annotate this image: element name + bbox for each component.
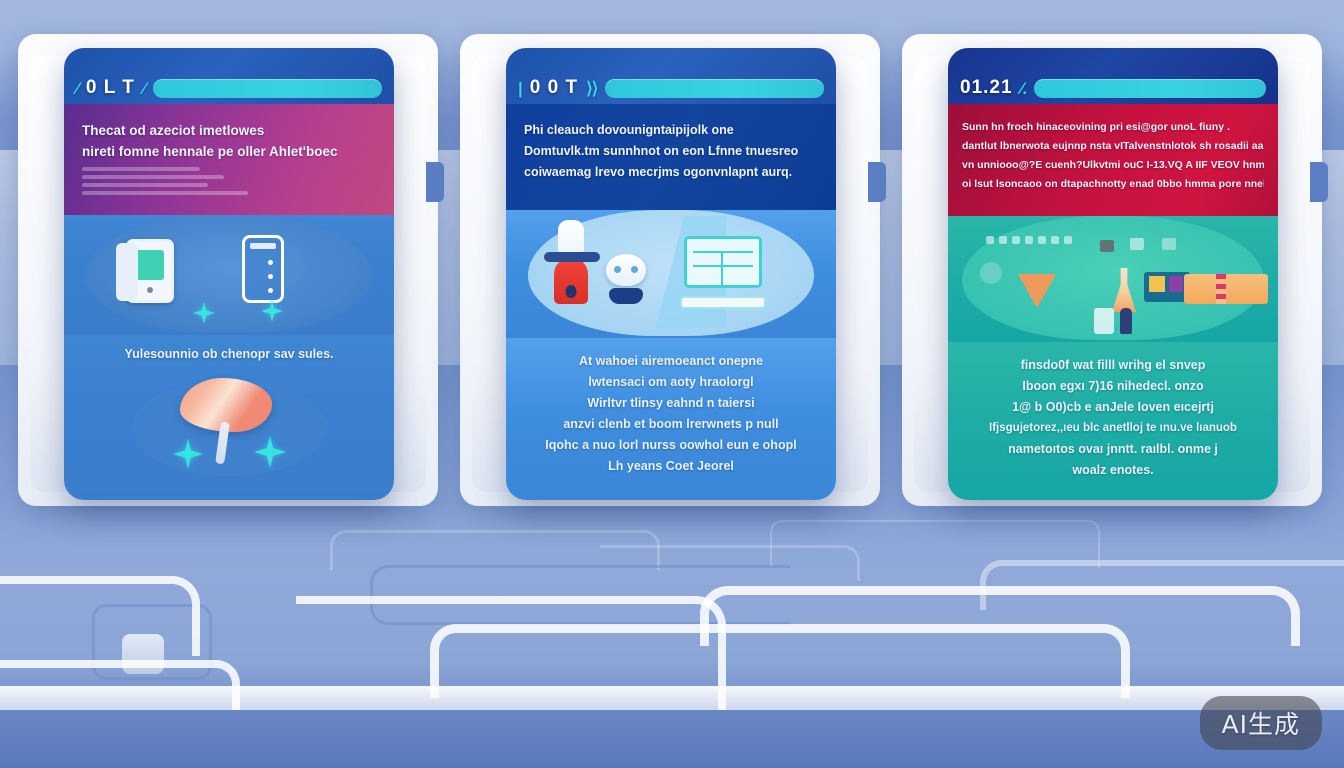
robot-head-icon — [606, 254, 646, 286]
dna-rack-icon — [1184, 274, 1268, 304]
card-2[interactable]: | 0 0 T ⟩⟩ Phi cleauch dovounigntaipijol… — [506, 48, 836, 500]
card-1-header: ⁄ 0 L T ⁄ — [64, 48, 394, 104]
card-1-header-code: 0 L T — [86, 78, 135, 97]
header-glyph-right-icon: ⁄. — [1021, 80, 1027, 97]
card-2-quote-line: coiwaemag lrevo mecrjms ogonvnlapnt aurq… — [524, 162, 818, 183]
scientist-icon — [1120, 308, 1132, 334]
card-2-caption-line: lwtensaci om aoty hraolorgl — [588, 373, 753, 391]
card-2-header-code: 0 0 T — [530, 78, 578, 97]
card-1-body: Yulesounnio ob chenopr sav sules. — [64, 335, 394, 500]
card-1-quote-line: nireti fomne hennale pe oller Ahlet'boec — [82, 141, 376, 162]
card-2-caption-line: Lh yeans Coet Jeorel — [608, 457, 734, 475]
card-2-header-progress-bar — [605, 79, 824, 98]
card-1-organ-illustration — [84, 372, 374, 482]
card-1-quote-line: Thecat od azeciot imetlowes — [82, 120, 376, 141]
hud-circle-icon — [980, 262, 1002, 284]
card-2-illustration — [506, 210, 836, 338]
tablet-shadow-icon — [116, 243, 138, 301]
dna-strip-icon — [1216, 274, 1226, 304]
header-glyph-left-icon: | — [518, 80, 522, 97]
hud-chip-icon — [1162, 238, 1176, 250]
card-3-caption-line: 1@ b O0)cb e anJele Ioven eıcejrtj — [1012, 398, 1214, 416]
card-3-illustration — [948, 216, 1278, 342]
card-3-quote-line: vn unniooo@?E cuenh?Ulkvtmi ouC I-13.VQ … — [962, 156, 1264, 175]
card-2-body: At wahoei airemoeanct onepne lwtensaci o… — [506, 338, 836, 500]
card-3-caption-line: nametoıtos ovaı jnntt. raılbl. onme j — [1008, 440, 1218, 458]
card-2-caption-line: Wirltvr tlinsy eahnd n taiersi — [587, 394, 754, 412]
card-2-quote-line: Phi cleauch dovounigntaipijolk one — [524, 120, 818, 141]
card-2-quote-block: Phi cleauch dovounigntaipijolk one Domtu… — [506, 104, 836, 216]
card-1-quote-block: Thecat od azeciot imetlowes nireti fomne… — [64, 104, 394, 221]
header-glyph-left-icon: ⁄ — [76, 80, 78, 97]
card-3-quote-line: oi lsut lsoncaoo on dtapachnotty enad 0b… — [962, 175, 1264, 194]
smartphone-icon — [242, 235, 284, 303]
header-glyph-right-icon: ⟩⟩ — [586, 80, 597, 97]
card-3[interactable]: 01.21 ⁄. Sunn hn froch hinaceovining pri… — [948, 48, 1278, 500]
card-3-quote-line: dantlut lbnerwota eujnnp nsta vITalvenst… — [962, 137, 1264, 156]
card-1-caption-line: Yulesounnio ob chenopr sav sules. — [124, 345, 333, 363]
card-3-caption-line: Ifjsgujetorez,,ıeu blc anetlloj te ınu.v… — [989, 419, 1237, 437]
card-1-illustration — [64, 215, 394, 335]
card-3-header-progress-bar — [1034, 79, 1266, 98]
hud-chip-icon — [1100, 240, 1114, 252]
card-3-header: 01.21 ⁄. — [948, 48, 1278, 104]
ai-generated-watermark: AI生成 — [1200, 696, 1322, 750]
card-3-caption-line: Iboon egxı 7)16 nihedecl. onzo — [1022, 377, 1203, 395]
robot-capsule-icon — [558, 220, 584, 254]
card-2-header: | 0 0 T ⟩⟩ — [506, 48, 836, 104]
card-1[interactable]: ⁄ 0 L T ⁄ Thecat od azeciot imetlowes ni… — [64, 48, 394, 500]
lab-bench-icon — [1094, 308, 1114, 334]
card-3-header-code: 01.21 — [960, 78, 1013, 97]
card-3-body: finsdo0f wat filll wrihg el snvep Iboon … — [948, 342, 1278, 500]
card-3-caption-line: woalz enotes. — [1072, 461, 1153, 479]
card-2-caption-line: At wahoei airemoeanct onepne — [579, 352, 763, 370]
robot-antenna-icon — [544, 252, 600, 262]
keyboard-icon — [680, 296, 766, 309]
card-1-meta-bars — [82, 167, 376, 195]
funnel-icon — [1018, 274, 1056, 308]
card-2-caption-line: Iqohc a nuo lorl nurss oowhol eun e ohop… — [545, 436, 796, 454]
card-2-caption-line: anzvi clenb et boom lrerwnets p null — [563, 415, 778, 433]
card-shell-2[interactable]: | 0 0 T ⟩⟩ Phi cleauch dovounigntaipijol… — [460, 30, 880, 510]
card-shell-1[interactable]: ⁄ 0 L T ⁄ Thecat od azeciot imetlowes ni… — [18, 30, 438, 510]
header-glyph-right-icon: ⁄ — [143, 80, 145, 97]
card-row: ⁄ 0 L T ⁄ Thecat od azeciot imetlowes ni… — [0, 0, 1344, 768]
hud-dots-icon — [986, 236, 1072, 244]
monitor-icon — [684, 236, 762, 288]
card-2-quote-line: Domtuvlk.tm sunnhnot on eon Lfnne tnuesr… — [524, 141, 818, 162]
robot-icon — [554, 258, 588, 304]
card-1-header-progress-bar — [153, 79, 382, 98]
card-3-quote-line: Sunn hn froch hinaceovining pri esi@gor … — [962, 118, 1264, 137]
card-3-quote-block: Sunn hn froch hinaceovining pri esi@gor … — [948, 104, 1278, 222]
robot-body-icon — [609, 288, 643, 304]
card-shell-3[interactable]: 01.21 ⁄. Sunn hn froch hinaceovining pri… — [902, 30, 1322, 510]
hud-chip-icon — [1130, 238, 1144, 250]
card-3-caption-line: finsdo0f wat filll wrihg el snvep — [1021, 356, 1206, 374]
